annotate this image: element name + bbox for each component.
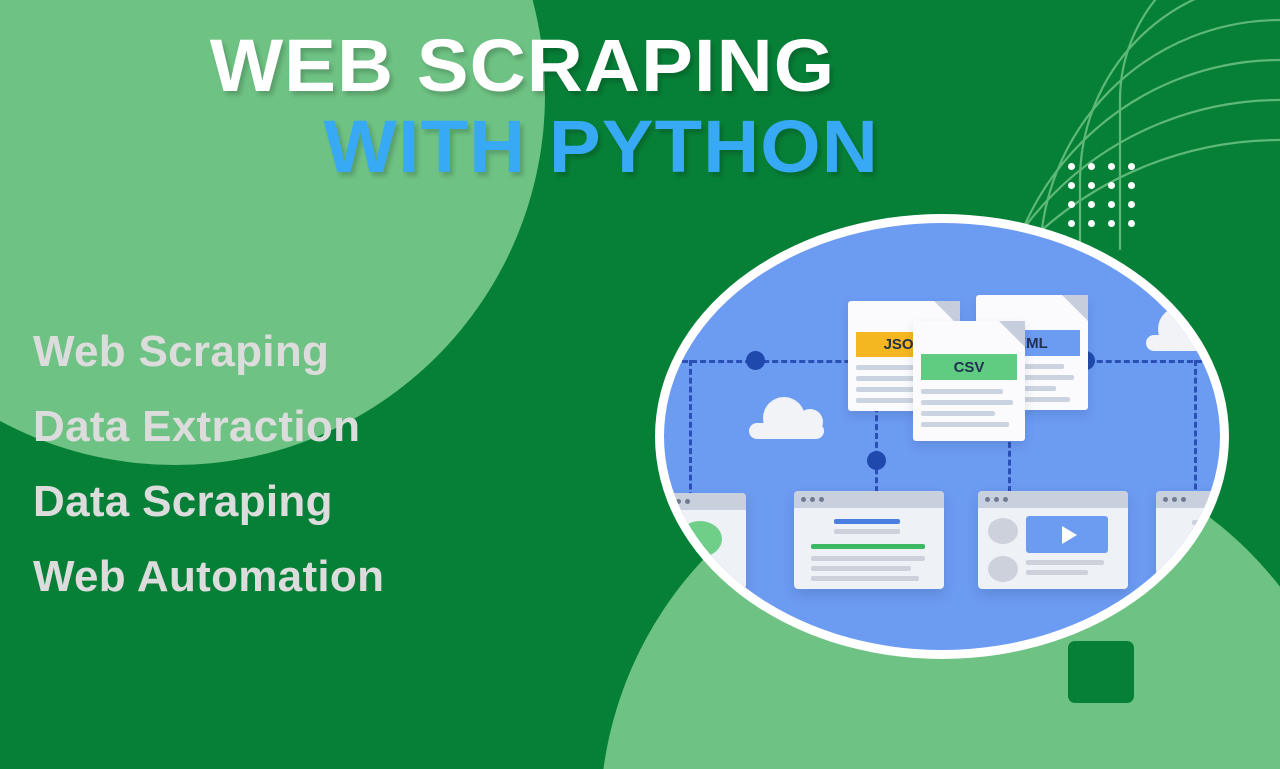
feature-list: Web Scraping Data Extraction Data Scrapi…: [33, 330, 384, 630]
page-title-line1: WEB SCRAPING: [0, 30, 1071, 103]
star-icon: ★: [1209, 546, 1229, 577]
window-titlebar: [794, 491, 944, 508]
avatar: [988, 518, 1018, 544]
play-icon: [1062, 526, 1077, 544]
feature-item-web-automation: Web Automation: [33, 555, 384, 599]
video-thumbnail[interactable]: [1026, 516, 1108, 553]
window-titlebar: [1156, 491, 1229, 508]
connector-node: [867, 451, 886, 470]
file-card-csv: CSV: [913, 321, 1025, 441]
illustration-web-scraping-diagram: JSON XML CSV: [655, 214, 1229, 659]
poster-canvas: WEB SCRAPING WITH PYTHON Web Scraping Da…: [0, 0, 1280, 769]
star-icon: ★: [1178, 546, 1206, 577]
page-fold-icon: [1062, 295, 1088, 321]
browser-window-video[interactable]: [978, 491, 1128, 589]
page-title-line2: WITH PYTHON: [0, 111, 1071, 184]
browser-window-rating[interactable]: ★ ★: [1156, 491, 1229, 589]
cloud-icon: [749, 423, 824, 439]
feature-item-web-scraping: Web Scraping: [33, 330, 384, 374]
feature-item-data-extraction: Data Extraction: [33, 405, 384, 449]
blue-oval-frame: JSON XML CSV: [655, 214, 1229, 659]
avatar: [988, 556, 1018, 582]
page-fold-icon: [999, 321, 1025, 347]
window-titlebar: [978, 491, 1128, 508]
file-type-badge-csv: CSV: [921, 354, 1017, 380]
avatar: [678, 521, 722, 557]
connector-node: [746, 351, 765, 370]
browser-window-article[interactable]: [794, 491, 944, 589]
highlight-bar: [811, 544, 925, 549]
feature-item-data-scraping: Data Scraping: [33, 480, 384, 524]
window-titlebar: [660, 493, 746, 510]
browser-window-profile[interactable]: [660, 493, 746, 589]
title-block: WEB SCRAPING WITH PYTHON: [0, 30, 1045, 183]
heading-bar: [834, 519, 900, 524]
cloud-icon: [1146, 335, 1226, 351]
